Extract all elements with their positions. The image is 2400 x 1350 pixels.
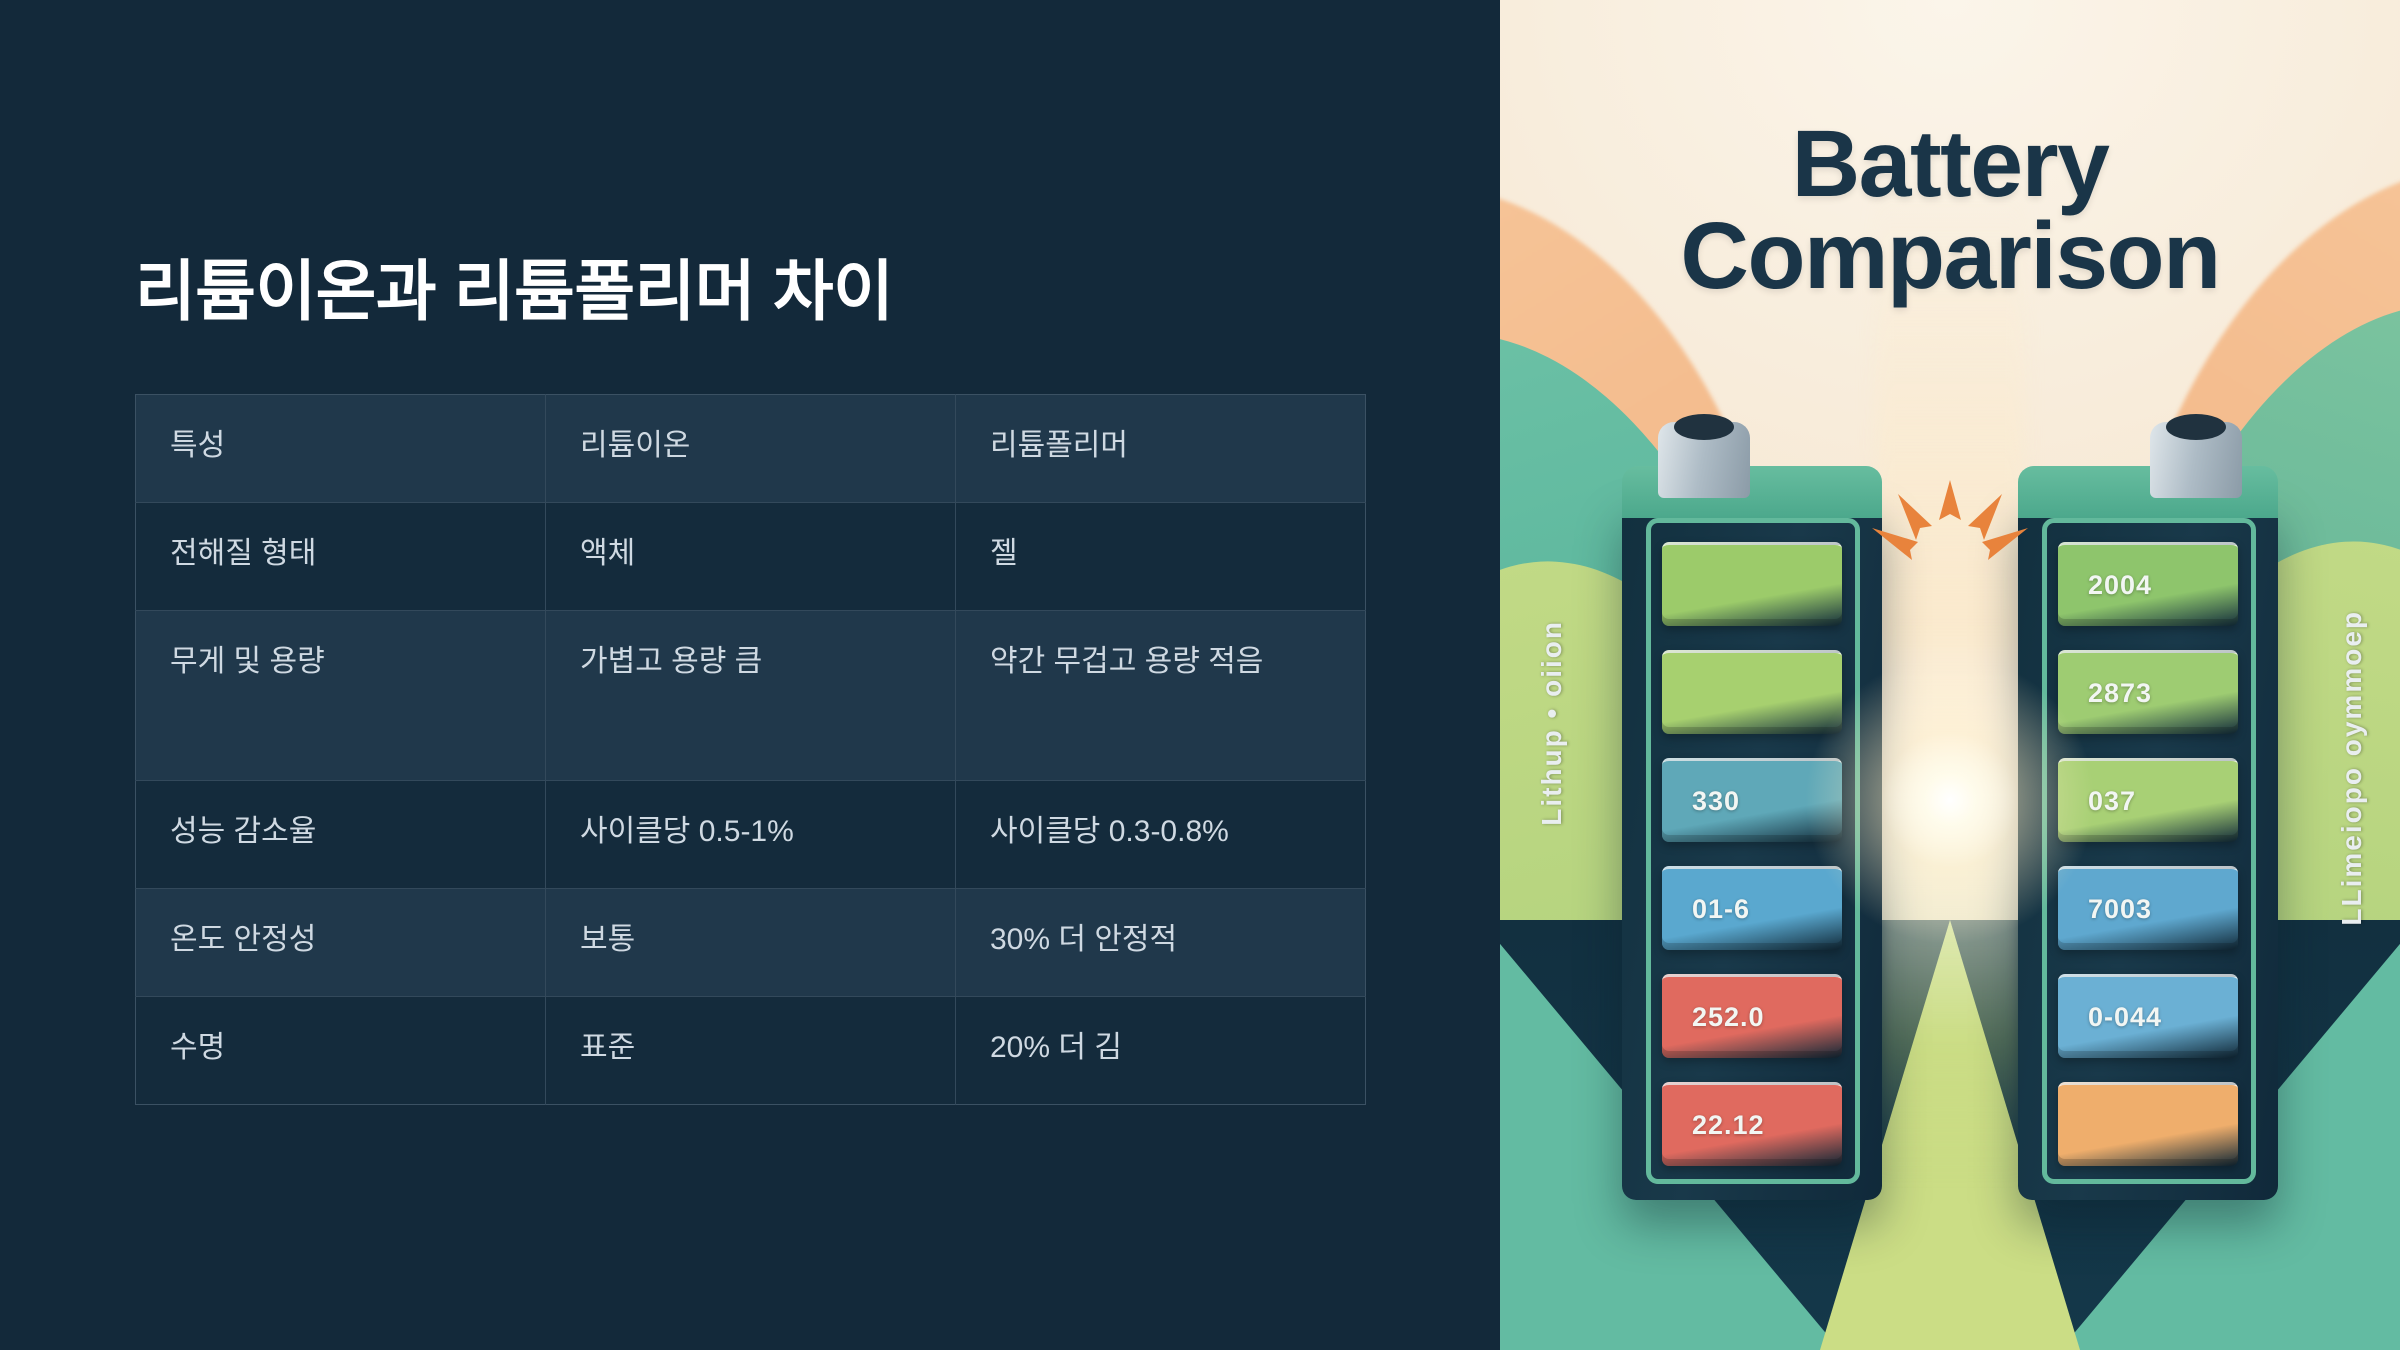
comparison-table: 특성 리튬이온 리튬폴리머 전해질 형태 액체 젤 무게 및 용량 가볍고 용량… (135, 394, 1366, 1105)
illustration-panel: Battery Comparison (1500, 0, 2400, 1350)
page-title: 리튬이온과 리튬폴리머 차이 (135, 255, 893, 328)
cell-feature: 무게 및 용량 (136, 611, 546, 781)
battery-cell: 037 (2058, 758, 2238, 842)
battery-cell: 2873 (2058, 650, 2238, 734)
illustration-title-line1: Battery (1500, 118, 2400, 210)
battery-cell: 22.12 (1662, 1082, 1842, 1166)
cell-lipoly: 20% 더 김 (956, 997, 1366, 1105)
table-row: 무게 및 용량 가볍고 용량 큼 약간 무겁고 용량 적음 (136, 611, 1366, 781)
table-row: 전해질 형태 액체 젤 (136, 503, 1366, 611)
battery-cell: 252.0 (1662, 974, 1842, 1058)
column-header-feature: 특성 (136, 395, 546, 503)
cell-lipoly: 30% 더 안정적 (956, 889, 1366, 997)
left-content-panel: 리튬이온과 리튬폴리머 차이 특성 리튬이온 리튬폴리머 전해질 형태 액체 젤… (0, 0, 1500, 1350)
battery-cell-stack-left: 330 01-6 252.0 22.12 (1662, 542, 1842, 1166)
battery-cell (2058, 1082, 2238, 1166)
battery-cell (1662, 542, 1842, 626)
battery-cell: 0-044 (2058, 974, 2238, 1058)
battery-label-lithium-ion: Lithup • oiion (1536, 620, 1568, 826)
battery-cell-stack-right: 2004 2873 037 7003 0-044 (2058, 542, 2238, 1166)
cell-liion: 표준 (546, 997, 956, 1105)
cell-liion: 보통 (546, 889, 956, 997)
table-row: 수명 표준 20% 더 김 (136, 997, 1366, 1105)
cell-lipoly: 약간 무겁고 용량 적음 (956, 611, 1366, 781)
table-header-row: 특성 리튬이온 리튬폴리머 (136, 395, 1366, 503)
cell-liion: 가볍고 용량 큼 (546, 611, 956, 781)
battery-terminal-cap (1658, 422, 1750, 498)
battery-cell: 7003 (2058, 866, 2238, 950)
battery-cell: 2004 (2058, 542, 2238, 626)
battery-label-lithium-polymer: LLimeiopo oymmoep (2336, 610, 2368, 926)
battery-cell: 330 (1662, 758, 1842, 842)
cell-lipoly: 젤 (956, 503, 1366, 611)
slide-root: 리튬이온과 리튬폴리머 차이 특성 리튬이온 리튬폴리머 전해질 형태 액체 젤… (0, 0, 2400, 1350)
battery-cell: 01-6 (1662, 866, 1842, 950)
cell-liion: 사이클당 0.5-1% (546, 781, 956, 889)
table-body: 전해질 형태 액체 젤 무게 및 용량 가볍고 용량 큼 약간 무겁고 용량 적… (136, 503, 1366, 1105)
battery-lithium-ion: 330 01-6 252.0 22.12 Lithup • oiion (1622, 500, 1882, 1200)
battery-cell (1662, 650, 1842, 734)
illustration-title-line2: Comparison (1500, 210, 2400, 302)
spark-burst-icon (1860, 480, 2040, 595)
table-row: 성능 감소율 사이클당 0.5-1% 사이클당 0.3-0.8% (136, 781, 1366, 889)
cell-feature: 전해질 형태 (136, 503, 546, 611)
column-header-liion: 리튬이온 (546, 395, 956, 503)
cell-feature: 수명 (136, 997, 546, 1105)
cell-liion: 액체 (546, 503, 956, 611)
column-header-lipoly: 리튬폴리머 (956, 395, 1366, 503)
cell-feature: 성능 감소율 (136, 781, 546, 889)
battery-terminal-cap (2150, 422, 2242, 498)
table-row: 온도 안정성 보통 30% 더 안정적 (136, 889, 1366, 997)
cell-feature: 온도 안정성 (136, 889, 546, 997)
table-header: 특성 리튬이온 리튬폴리머 (136, 395, 1366, 503)
battery-lithium-polymer: 2004 2873 037 7003 0-044 LLimeiopo oymmo… (2018, 500, 2278, 1200)
illustration-title: Battery Comparison (1500, 118, 2400, 302)
cell-lipoly: 사이클당 0.3-0.8% (956, 781, 1366, 889)
